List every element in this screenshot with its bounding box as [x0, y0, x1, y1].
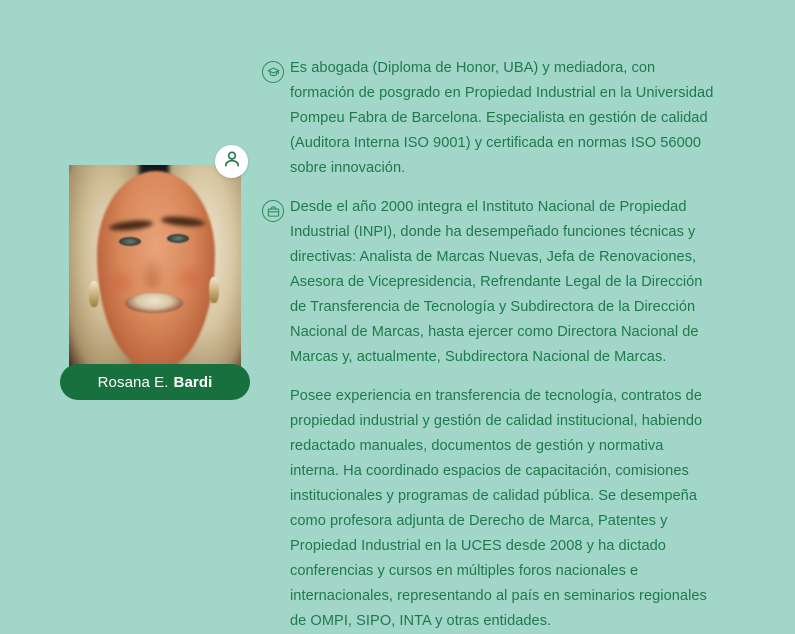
portrait-card [69, 165, 241, 370]
bio-block-education: Es abogada (Diploma de Honor, UBA) y med… [262, 56, 714, 181]
name-badge: Rosana E. Bardi [60, 364, 250, 400]
photo-cheek-right [173, 265, 207, 291]
photo-mouth [125, 293, 183, 313]
profile-slide: Rosana E. Bardi Es abogada (Diploma de H… [0, 0, 795, 546]
photo-nose [139, 257, 165, 289]
photo-earring-right [209, 277, 219, 303]
graduation-cap-icon [262, 61, 284, 83]
bio-text-education: Es abogada (Diploma de Honor, UBA) y med… [290, 56, 714, 181]
photo-eye-left [119, 237, 141, 246]
portrait-photo [69, 165, 241, 370]
bio-text-additional: Posee experiencia en transferencia de te… [290, 384, 714, 634]
briefcase-icon [262, 200, 284, 222]
user-person-icon [222, 149, 242, 174]
photo-eye-right [167, 234, 189, 243]
bio-block-additional: Posee experiencia en transferencia de te… [262, 384, 714, 634]
avatar [215, 145, 248, 178]
bio-block-experience: Desde el año 2000 integra el Instituto N… [262, 195, 714, 370]
photo-earring-left [89, 281, 99, 307]
bio-text-experience: Desde el año 2000 integra el Instituto N… [290, 195, 714, 370]
name-last: Bardi [174, 374, 213, 391]
photo-cheek-left [103, 269, 137, 295]
name-first: Rosana E. [98, 374, 169, 391]
bio-column: Es abogada (Diploma de Honor, UBA) y med… [262, 56, 714, 634]
